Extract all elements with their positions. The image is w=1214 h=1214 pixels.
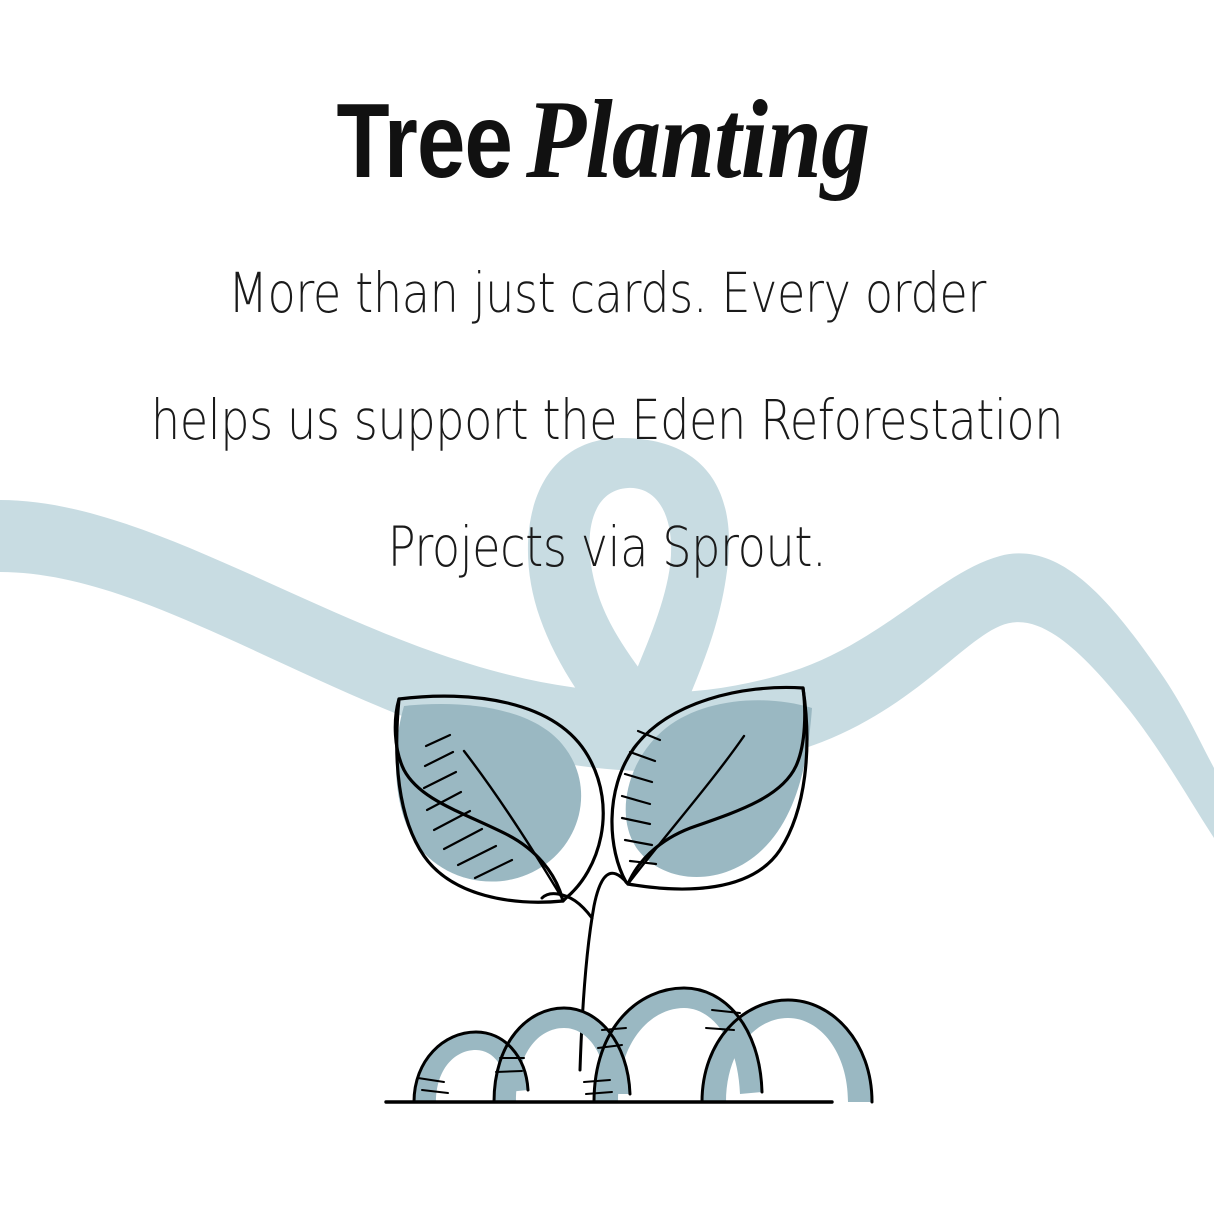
soil-bump-3-fill <box>594 988 762 1102</box>
subtitle-line-2: helps us support the Eden Reforestation <box>97 357 1117 484</box>
right-leaf-vein <box>628 736 744 884</box>
left-leaf-hatch-marks <box>424 735 512 878</box>
soil-bump-2-fill <box>494 1008 630 1102</box>
right-leaf-hatch-marks <box>622 731 660 864</box>
right-leaf-fill <box>626 700 812 877</box>
title-word-planting: Planting <box>526 84 870 196</box>
right-leaf-outline-lower <box>628 688 807 889</box>
soil-bump-4-outline <box>702 1000 872 1102</box>
subtitle-line-1: More than just cards. Every order <box>97 230 1117 357</box>
soil-texture-marks <box>418 1010 740 1094</box>
soil-bump-2-outline <box>494 1008 630 1102</box>
seedling-illustration <box>386 687 872 1102</box>
promo-card: TreePlanting More than just cards. Every… <box>0 0 1214 1214</box>
right-leaf-outline <box>612 687 805 884</box>
plant-stem <box>580 873 628 1070</box>
soil-bump-3-outline <box>594 988 762 1102</box>
soil-bump-4-fill <box>702 1000 872 1102</box>
left-leaf-vein <box>464 751 562 898</box>
plant-stem-branch-left <box>542 894 592 918</box>
left-leaf-outline-lower <box>397 699 563 902</box>
subtitle-line-3: Projects via Sprout. <box>97 484 1117 611</box>
soil-bump-1-outline <box>414 1032 528 1102</box>
left-leaf-outline <box>395 696 603 901</box>
subtitle-paragraph: More than just cards. Every order helps … <box>0 196 1214 611</box>
title-word-tree: Tree <box>336 88 512 194</box>
text-content: TreePlanting More than just cards. Every… <box>0 0 1214 611</box>
soil-mound <box>386 988 872 1102</box>
page-title: TreePlanting <box>0 0 1214 196</box>
left-leaf-fill <box>396 704 581 882</box>
soil-bump-1-fill <box>414 1032 528 1102</box>
